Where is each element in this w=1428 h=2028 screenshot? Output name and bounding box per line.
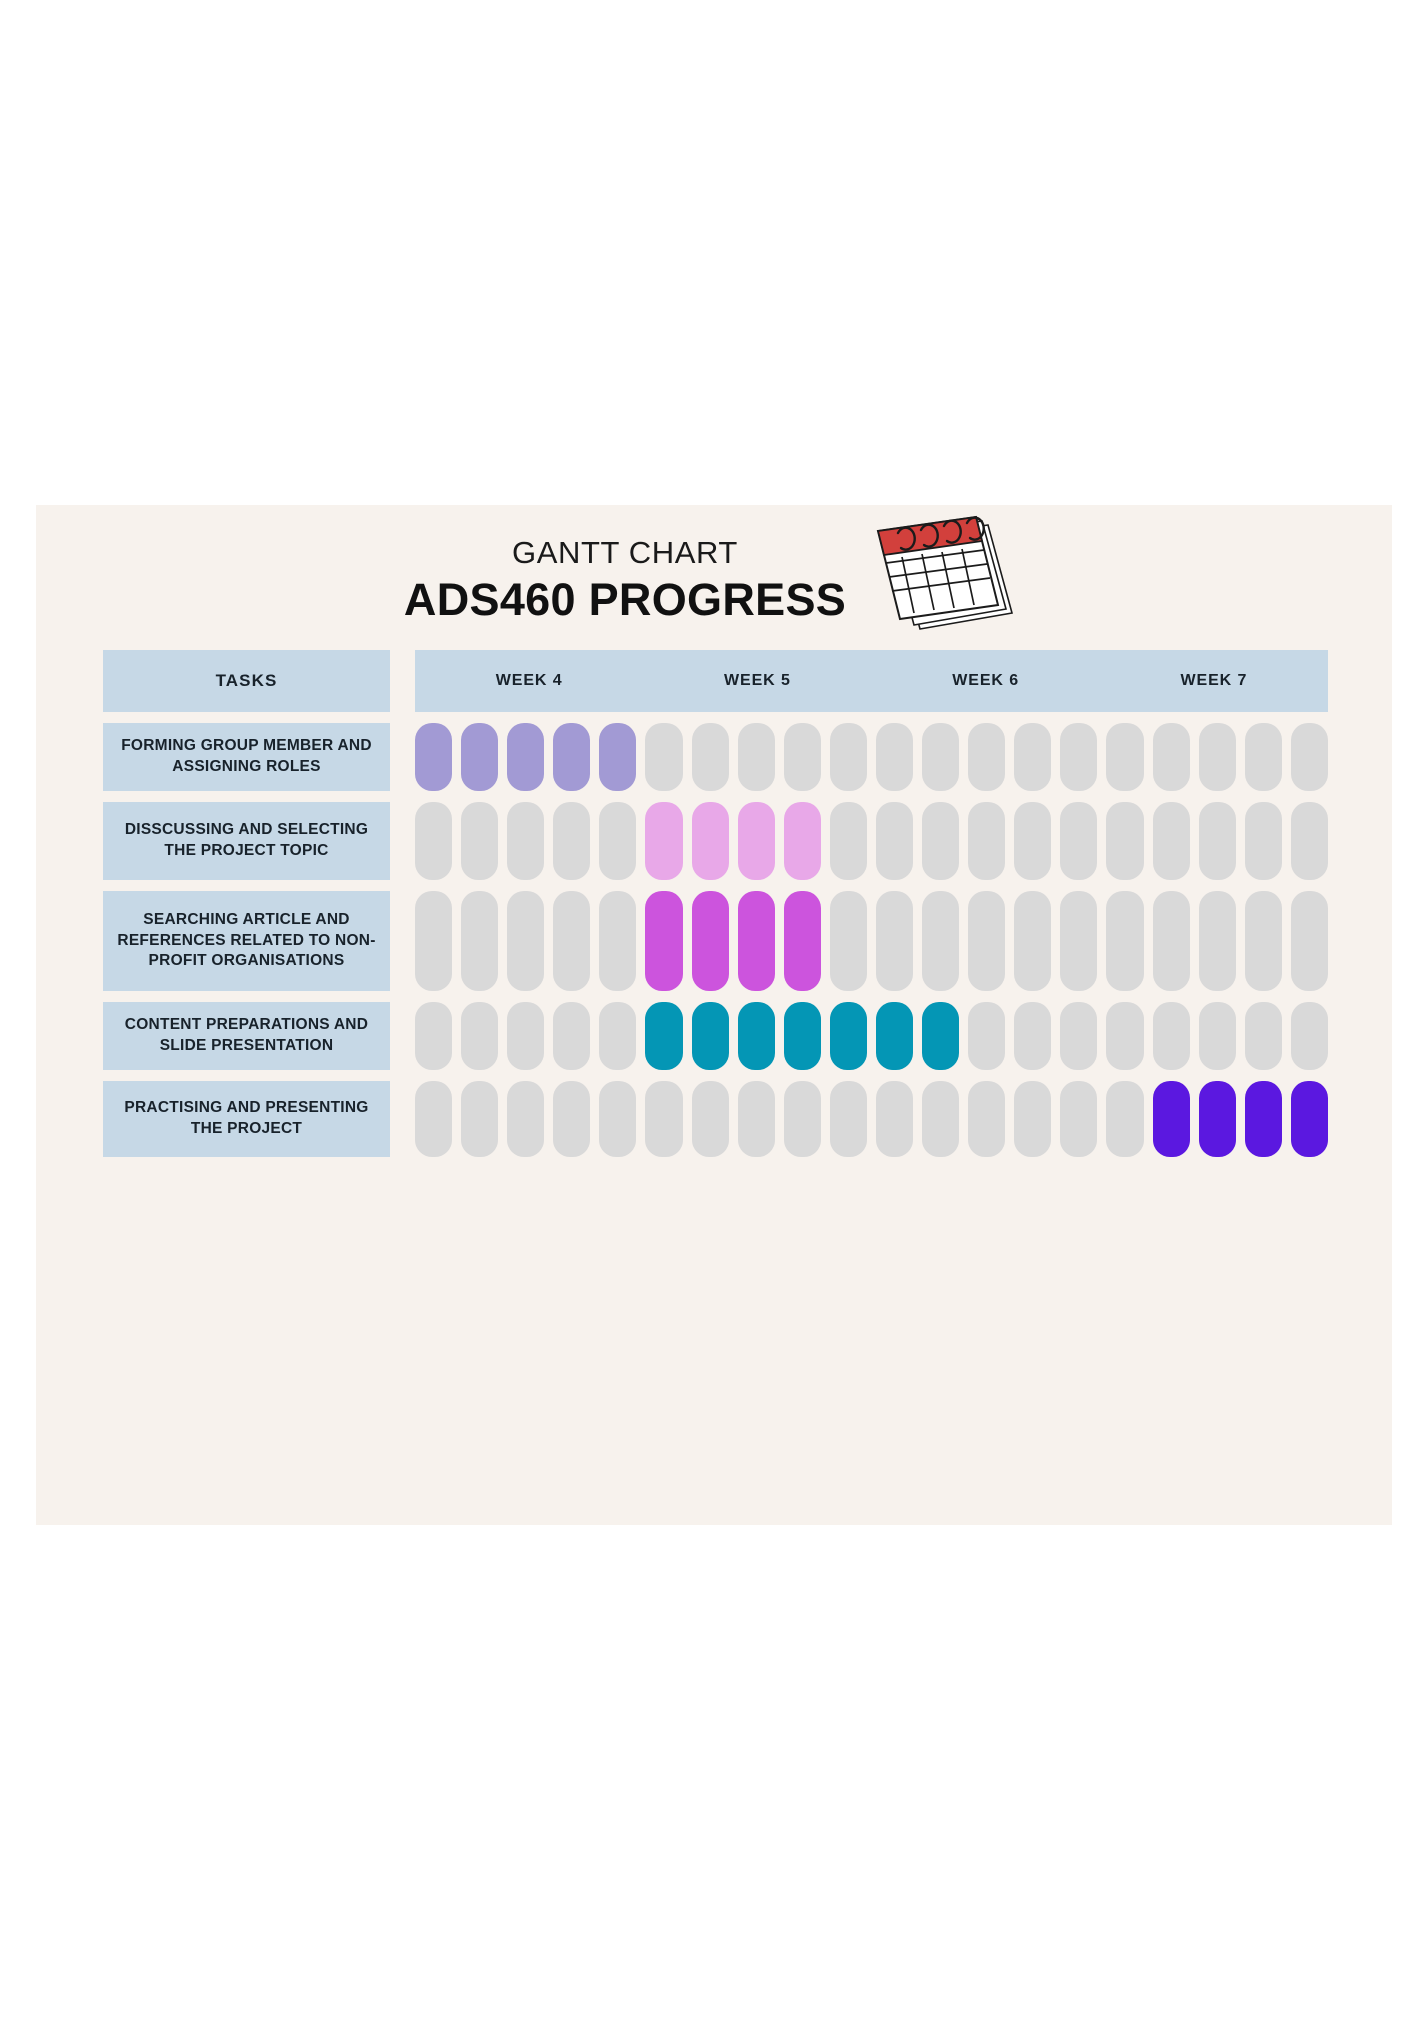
table-row: CONTENT PREPARATIONS AND SLIDE PRESENTAT… <box>103 1002 1328 1070</box>
task-bars-3 <box>415 891 1328 991</box>
task-label-4: CONTENT PREPARATIONS AND SLIDE PRESENTAT… <box>103 1002 390 1070</box>
gantt-bar-empty <box>830 1081 867 1157</box>
gantt-bar-empty <box>1245 723 1282 791</box>
chart-subtitle: GANTT CHART <box>404 535 846 571</box>
gantt-bar-empty <box>1153 891 1190 991</box>
gantt-bar-empty <box>1199 891 1236 991</box>
gantt-bar-empty <box>1291 723 1328 791</box>
gantt-bar-filled <box>784 1002 821 1070</box>
gantt-bar-empty <box>461 1081 498 1157</box>
week-header-3: WEEK 6 <box>872 650 1100 712</box>
gantt-bar-filled <box>738 802 775 880</box>
gantt-bar-empty <box>415 1081 452 1157</box>
gantt-bar-filled <box>738 1002 775 1070</box>
title-block: GANTT CHART ADS460 PROGRESS <box>36 525 1392 655</box>
gantt-bar-empty <box>553 1002 590 1070</box>
gantt-bar-empty <box>1153 802 1190 880</box>
gantt-bar-empty <box>738 723 775 791</box>
task-bars-5 <box>415 1081 1328 1157</box>
gantt-bar-filled <box>507 723 544 791</box>
gantt-bar-filled <box>415 723 452 791</box>
gantt-bar-empty <box>1060 891 1097 991</box>
gantt-bar-empty <box>968 1002 1005 1070</box>
gantt-bar-empty <box>1106 1081 1143 1157</box>
gantt-bar-empty <box>830 802 867 880</box>
tasks-column-header: TASKS <box>103 650 390 712</box>
weeks-header: WEEK 4 WEEK 5 WEEK 6 WEEK 7 <box>415 650 1328 712</box>
gantt-bar-empty <box>922 1081 959 1157</box>
gantt-bar-empty <box>968 723 1005 791</box>
gantt-bar-empty <box>1199 1002 1236 1070</box>
gantt-bar-empty <box>830 723 867 791</box>
gantt-bar-empty <box>1106 802 1143 880</box>
task-bars-4 <box>415 1002 1328 1070</box>
title-text-group: GANTT CHART ADS460 PROGRESS <box>404 525 846 627</box>
gantt-bar-filled <box>1291 1081 1328 1157</box>
gantt-bar-empty <box>1245 891 1282 991</box>
gantt-bar-empty <box>1106 891 1143 991</box>
gantt-bar-empty <box>1199 723 1236 791</box>
gantt-bar-empty <box>553 891 590 991</box>
gantt-bar-empty <box>599 1081 636 1157</box>
gantt-bar-empty <box>1060 802 1097 880</box>
gantt-bar-empty <box>415 1002 452 1070</box>
task-bars-2 <box>415 802 1328 880</box>
gantt-bar-empty <box>738 1081 775 1157</box>
gantt-bar-empty <box>1060 1081 1097 1157</box>
gantt-bar-empty <box>968 1081 1005 1157</box>
gantt-bar-empty <box>1291 891 1328 991</box>
task-label-5: PRACTISING AND PRESENTING THE PROJECT <box>103 1081 390 1157</box>
gantt-header-row: TASKS WEEK 4 WEEK 5 WEEK 6 WEEK 7 <box>103 650 1328 712</box>
gantt-bar-empty <box>553 802 590 880</box>
gantt-bar-empty <box>1291 1002 1328 1070</box>
gantt-bar-empty <box>599 802 636 880</box>
gantt-bar-empty <box>692 1081 729 1157</box>
gantt-bar-empty <box>1014 723 1051 791</box>
gantt-bar-empty <box>922 802 959 880</box>
page-title: ADS460 PROGRESS <box>404 573 846 627</box>
table-row: SEARCHING ARTICLE AND REFERENCES RELATED… <box>103 891 1328 991</box>
task-bars-1 <box>415 723 1328 791</box>
gantt-bar-empty <box>1153 1002 1190 1070</box>
gantt-bar-empty <box>876 802 913 880</box>
calendar-icon <box>864 509 1024 635</box>
gantt-bar-filled <box>692 1002 729 1070</box>
gantt-bar-empty <box>784 1081 821 1157</box>
gantt-bar-filled <box>784 802 821 880</box>
gantt-grid: TASKS WEEK 4 WEEK 5 WEEK 6 WEEK 7 FORMIN… <box>103 650 1328 1168</box>
gantt-bar-empty <box>461 802 498 880</box>
gantt-bar-empty <box>1291 802 1328 880</box>
gantt-bar-empty <box>1245 1002 1282 1070</box>
gantt-bar-empty <box>876 891 913 991</box>
gantt-bar-empty <box>507 1081 544 1157</box>
week-header-2: WEEK 5 <box>643 650 871 712</box>
gantt-bar-empty <box>507 891 544 991</box>
gantt-bar-empty <box>1014 1002 1051 1070</box>
gantt-bar-empty <box>1014 802 1051 880</box>
gantt-bar-empty <box>1014 1081 1051 1157</box>
gantt-bar-empty <box>645 1081 682 1157</box>
gantt-bar-filled <box>784 891 821 991</box>
gantt-bar-empty <box>876 723 913 791</box>
gantt-bar-empty <box>830 891 867 991</box>
gantt-bar-empty <box>1153 723 1190 791</box>
gantt-bar-empty <box>922 723 959 791</box>
gantt-bar-empty <box>507 1002 544 1070</box>
gantt-bar-filled <box>1245 1081 1282 1157</box>
gantt-bar-empty <box>1060 1002 1097 1070</box>
gantt-bar-filled <box>599 723 636 791</box>
gantt-bar-empty <box>1106 1002 1143 1070</box>
gantt-bar-filled <box>645 1002 682 1070</box>
task-label-3: SEARCHING ARTICLE AND REFERENCES RELATED… <box>103 891 390 991</box>
gantt-bar-empty <box>553 1081 590 1157</box>
gantt-bar-empty <box>876 1081 913 1157</box>
gantt-bar-filled <box>692 891 729 991</box>
gantt-bar-empty <box>968 802 1005 880</box>
gantt-bar-empty <box>1106 723 1143 791</box>
gantt-bar-empty <box>1245 802 1282 880</box>
gantt-chart-poster: GANTT CHART ADS460 PROGRESS <box>36 505 1392 1525</box>
gantt-bar-filled <box>692 802 729 880</box>
gantt-bar-empty <box>461 1002 498 1070</box>
gantt-bar-filled <box>738 891 775 991</box>
gantt-bar-filled <box>1153 1081 1190 1157</box>
gantt-bar-filled <box>645 802 682 880</box>
gantt-bar-filled <box>922 1002 959 1070</box>
gantt-bar-filled <box>830 1002 867 1070</box>
gantt-bar-filled <box>461 723 498 791</box>
gantt-bar-empty <box>507 802 544 880</box>
gantt-bar-filled <box>645 891 682 991</box>
gantt-bar-empty <box>415 891 452 991</box>
gantt-bar-empty <box>1060 723 1097 791</box>
gantt-bar-empty <box>922 891 959 991</box>
table-row: PRACTISING AND PRESENTING THE PROJECT <box>103 1081 1328 1157</box>
gantt-bar-empty <box>784 723 821 791</box>
gantt-bar-empty <box>599 891 636 991</box>
gantt-bar-empty <box>461 891 498 991</box>
gantt-bar-empty <box>692 723 729 791</box>
week-header-1: WEEK 4 <box>415 650 643 712</box>
gantt-bar-filled <box>553 723 590 791</box>
task-label-2: DISSCUSSING AND SELECTING THE PROJECT TO… <box>103 802 390 880</box>
gantt-bar-filled <box>876 1002 913 1070</box>
gantt-bar-empty <box>415 802 452 880</box>
gantt-bar-empty <box>1199 802 1236 880</box>
task-label-1: FORMING GROUP MEMBER AND ASSIGNING ROLES <box>103 723 390 791</box>
table-row: FORMING GROUP MEMBER AND ASSIGNING ROLES <box>103 723 1328 791</box>
gantt-bar-empty <box>968 891 1005 991</box>
week-header-4: WEEK 7 <box>1100 650 1328 712</box>
gantt-bar-empty <box>1014 891 1051 991</box>
table-row: DISSCUSSING AND SELECTING THE PROJECT TO… <box>103 802 1328 880</box>
gantt-bar-filled <box>1199 1081 1236 1157</box>
gantt-bar-empty <box>599 1002 636 1070</box>
gantt-bar-empty <box>645 723 682 791</box>
